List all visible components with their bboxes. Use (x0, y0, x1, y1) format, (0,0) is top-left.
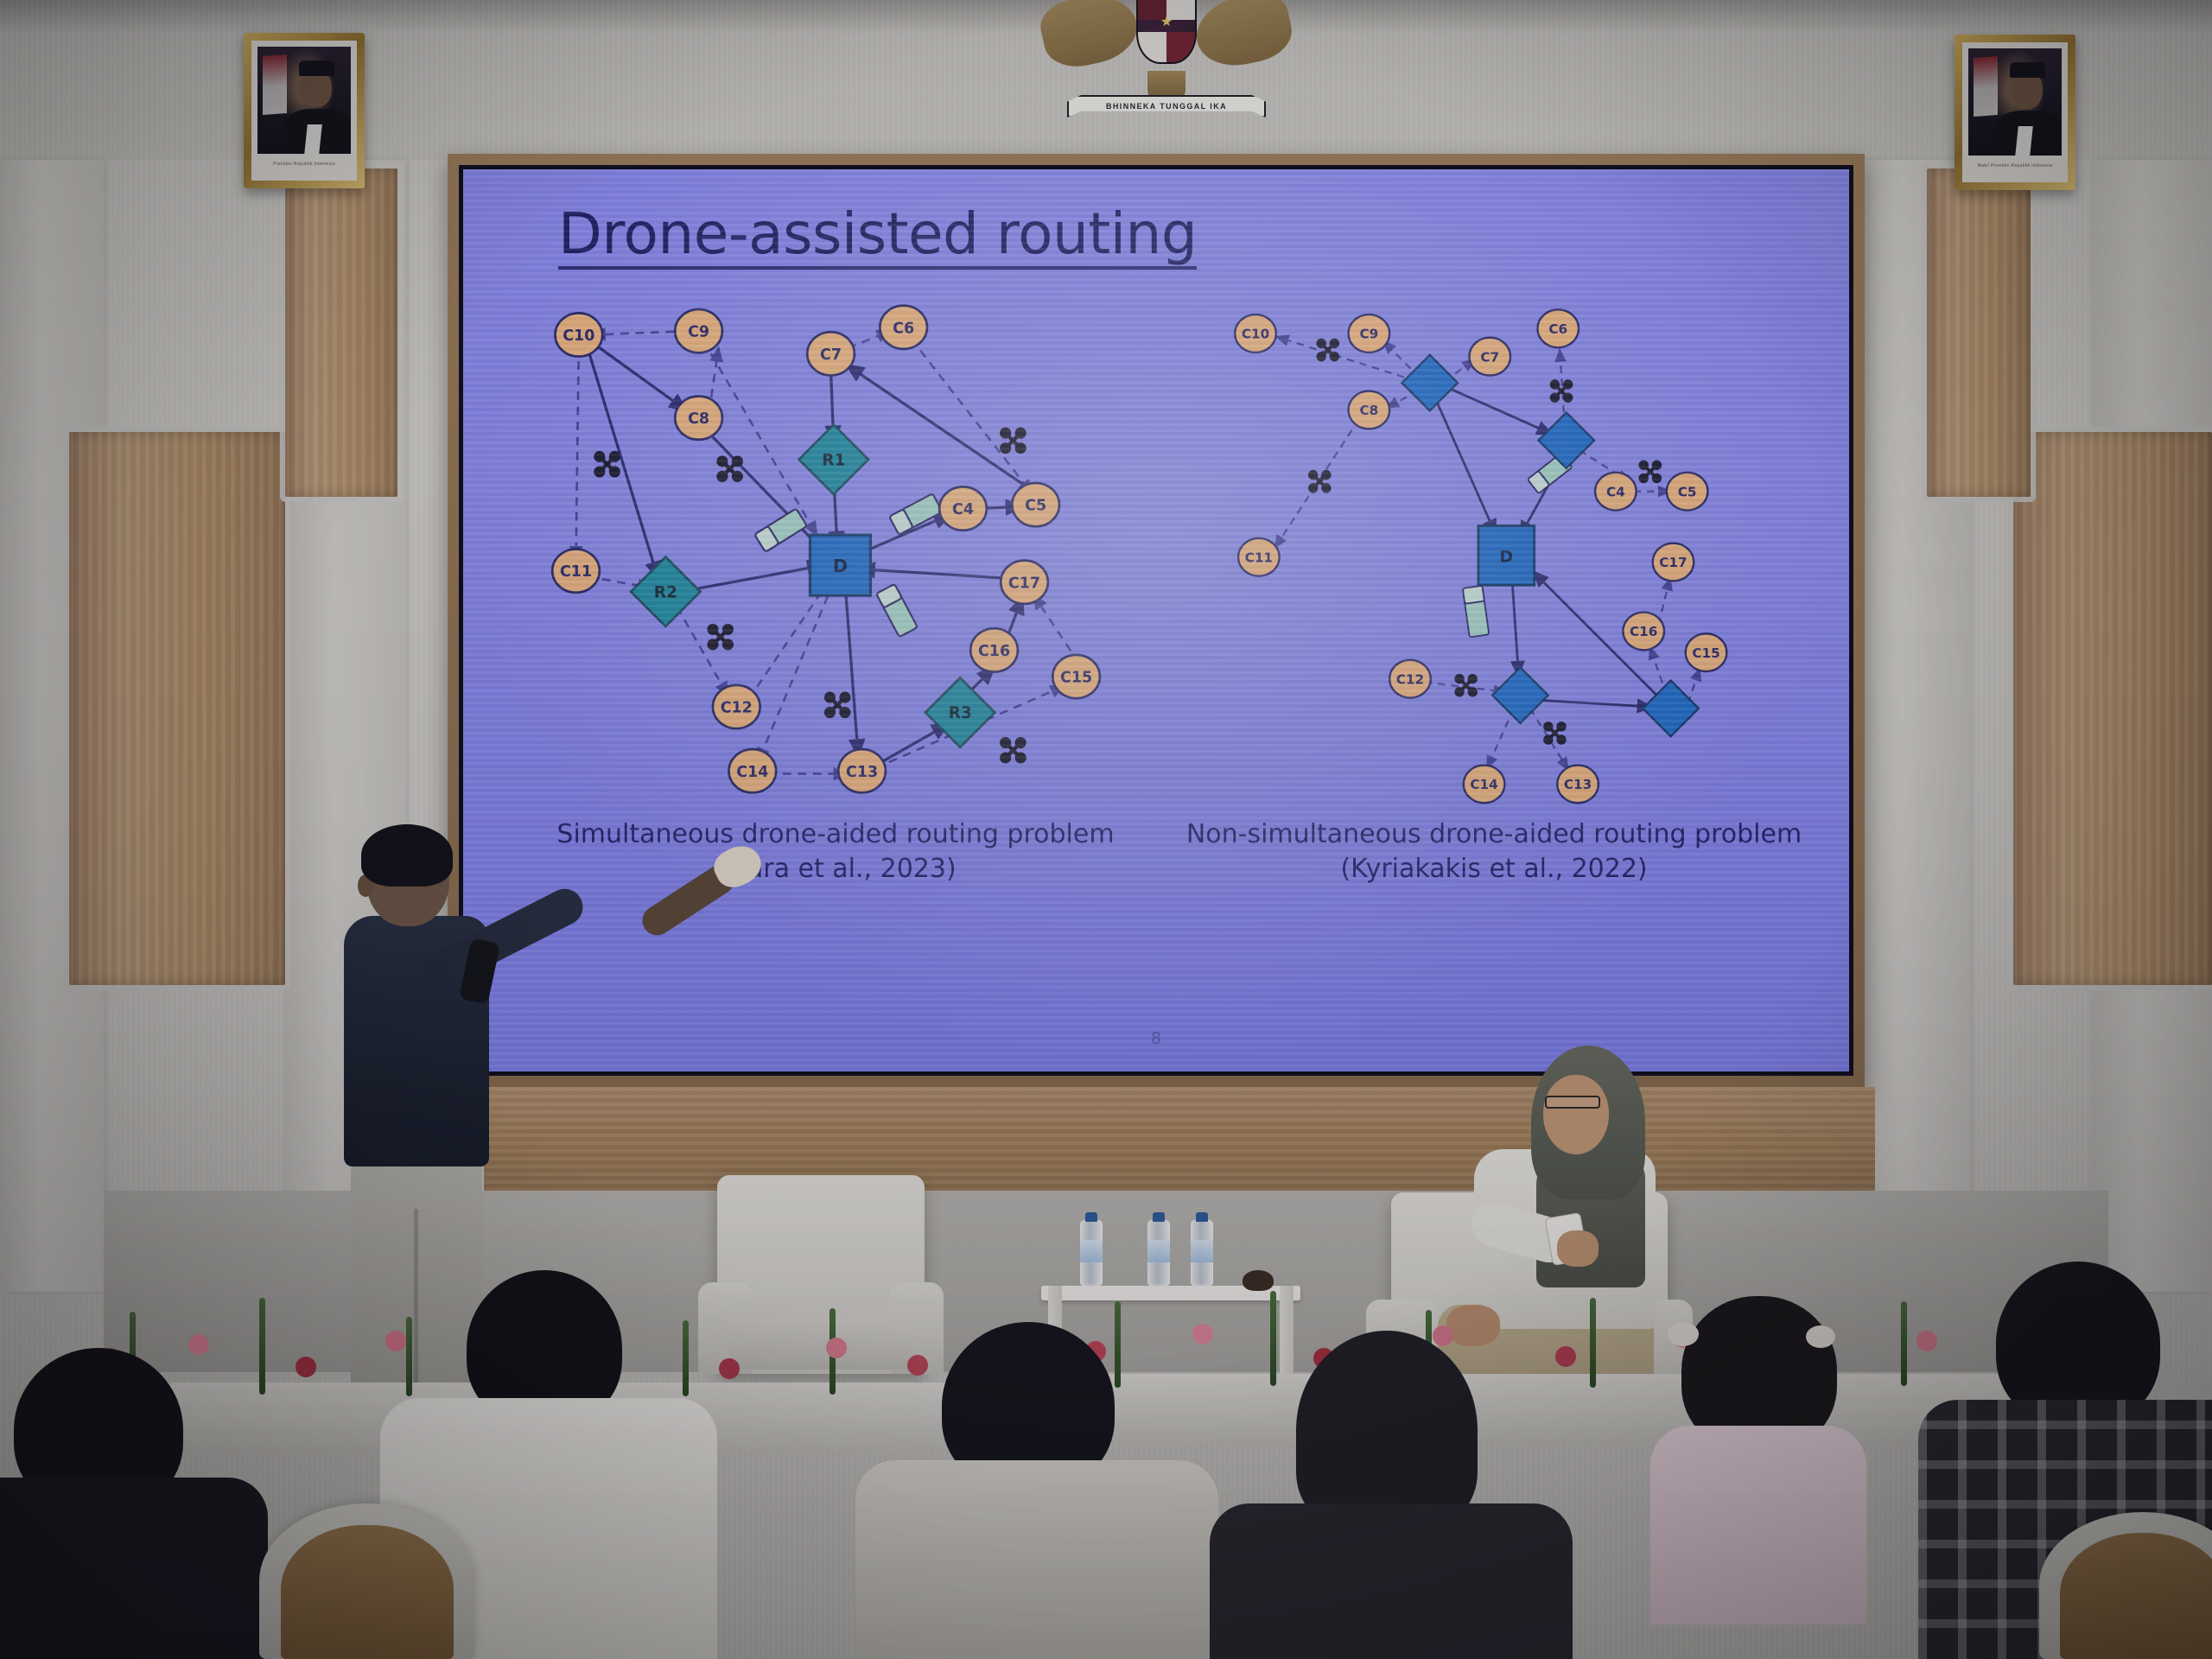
portrait-caption-right: Wakil Presiden Republik Indonesia (1968, 156, 2062, 176)
audience-body (0, 1478, 268, 1659)
moderator-hand (1557, 1230, 1599, 1267)
child-hair-tie-left (1668, 1322, 1699, 1346)
svg-text:C10: C10 (1242, 327, 1269, 342)
svg-text:C9: C9 (688, 324, 709, 341)
water-bottle-3 (1191, 1220, 1213, 1286)
portrait-caption-left: Presiden Republik Indonesia (257, 154, 351, 175)
caption-nonsimultaneous-line1: Non-simultaneous drone-aided routing pro… (1147, 817, 1840, 852)
child-hair-tie-right (1806, 1325, 1835, 1348)
depot-node-left: D (810, 535, 871, 595)
svg-text:C11: C11 (1245, 550, 1273, 566)
pancasila-shield (1136, 0, 1197, 64)
garuda-pancasila-emblem: BHINNEKA TUNGGAL IKA (1037, 0, 1296, 118)
svg-text:C12: C12 (1396, 671, 1424, 687)
garuda-wing-left (1036, 0, 1143, 73)
president-portrait-photo (257, 47, 351, 154)
diagram-panel-nonsimultaneous: D C10 C9 C7 C6 C8 C4 C5 C11 C17 C (1147, 299, 1840, 904)
water-bottle-2 (1147, 1220, 1170, 1286)
conference-hall-photo: Presiden Republik Indonesia Wakil Presid… (0, 0, 2212, 1659)
wall-wood-panel-left (69, 432, 285, 985)
svg-text:C16: C16 (978, 643, 1010, 660)
wall-wood-panel-right (2013, 432, 2212, 985)
banquet-chair-left (259, 1503, 475, 1659)
portrait-frame-right: Wakil Presiden Republik Indonesia (1955, 35, 2075, 190)
wall-wood-panel-left-far (285, 168, 397, 497)
audience-child (1633, 1296, 1892, 1659)
svg-text:C5: C5 (1025, 498, 1046, 515)
svg-text:C11: C11 (560, 563, 592, 581)
audience-member-hijab (1218, 1331, 1555, 1659)
svg-text:C14: C14 (736, 764, 768, 781)
svg-text:C13: C13 (1564, 777, 1592, 792)
svg-text:C7: C7 (1480, 349, 1499, 365)
presenter-hair (361, 824, 453, 887)
svg-text:R3: R3 (949, 704, 972, 722)
vice-president-portrait-photo (1968, 48, 2062, 156)
svg-text:R2: R2 (654, 583, 677, 601)
svg-text:C7: C7 (820, 346, 842, 364)
audience-body (855, 1460, 1218, 1659)
svg-text:C5: C5 (1678, 484, 1697, 499)
rendezvous-nodes-right (1402, 355, 1698, 736)
audience-head-hijab (1296, 1331, 1478, 1529)
svg-text:C6: C6 (1548, 321, 1567, 337)
svg-text:C17: C17 (1659, 555, 1687, 570)
svg-text:C15: C15 (1060, 670, 1092, 687)
diagram-panel-simultaneous: R1 R2 R3 D C10 C9 C7 (489, 299, 1182, 904)
graph-nonsimultaneous: D C10 C9 C7 C6 C8 C4 C5 C11 C17 C (1147, 299, 1840, 809)
moderator-glasses (1545, 1096, 1600, 1109)
wall-wood-panel-right-far (1927, 168, 2031, 497)
svg-text:C15: C15 (1692, 645, 1719, 661)
svg-text:C17: C17 (1008, 575, 1040, 592)
caption-nonsimultaneous-line2: (Kyriakakis et al., 2022) (1147, 852, 1840, 887)
svg-text:C4: C4 (1606, 484, 1625, 499)
emblem-banner-text: BHINNEKA TUNGGAL IKA (1106, 102, 1227, 111)
slide-title: Drone-assisted routing (558, 206, 1197, 270)
svg-text:C16: C16 (1630, 624, 1657, 639)
svg-text:C12: C12 (721, 700, 753, 717)
svg-text:D: D (833, 556, 848, 576)
water-bottle-1 (1080, 1220, 1103, 1286)
child-body (1650, 1426, 1866, 1624)
svg-text:C10: C10 (563, 327, 594, 345)
audience-member-center (864, 1322, 1201, 1659)
graph-simultaneous: R1 R2 R3 D C10 C9 C7 (489, 299, 1182, 809)
svg-text:C8: C8 (1359, 403, 1378, 418)
audience-member-far-left (0, 1348, 259, 1659)
portrait-frame-left: Presiden Republik Indonesia (244, 33, 365, 188)
emblem-banner: BHINNEKA TUNGGAL IKA (1067, 95, 1266, 118)
svg-text:C8: C8 (688, 410, 709, 428)
svg-text:C14: C14 (1470, 777, 1497, 792)
moderator-face (1543, 1075, 1609, 1154)
svg-text:D: D (1499, 548, 1513, 567)
svg-text:C6: C6 (893, 320, 914, 337)
garuda-wing-right (1190, 0, 1297, 73)
svg-text:C4: C4 (952, 501, 974, 518)
slide-page-number: 8 (1151, 1029, 1160, 1049)
svg-text:R1: R1 (822, 451, 845, 469)
svg-text:C13: C13 (846, 764, 878, 781)
caption-nonsimultaneous: Non-simultaneous drone-aided routing pro… (1147, 817, 1840, 886)
audience-body (1210, 1503, 1573, 1659)
svg-text:C9: C9 (1359, 327, 1378, 342)
depot-node-right: D (1478, 526, 1535, 586)
